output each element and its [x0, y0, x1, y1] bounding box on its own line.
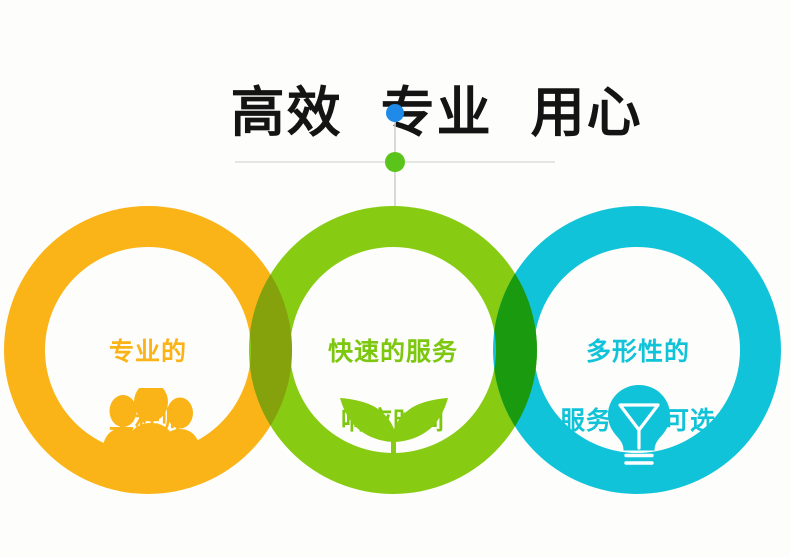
- poster-canvas: 高效专业用心: [0, 0, 790, 557]
- overlap-green-cyan: [0, 195, 790, 515]
- connector-decoration: [0, 0, 790, 210]
- blue-dot-icon: [386, 104, 404, 122]
- green-dot-icon: [385, 152, 405, 172]
- venn-diagram: [0, 195, 790, 515]
